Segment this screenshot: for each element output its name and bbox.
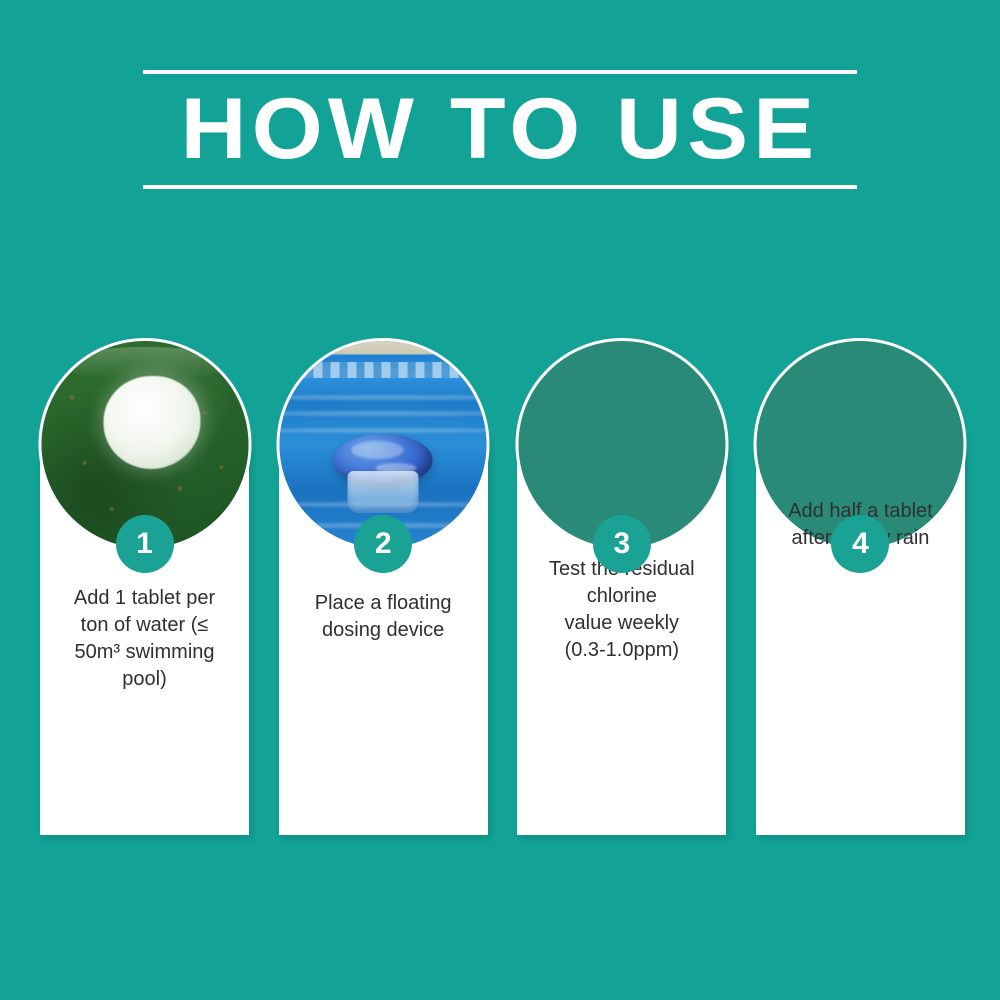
header-rule-bottom <box>143 185 857 189</box>
page-header: HOW TO USE <box>143 70 857 189</box>
step-badge-1: 1 <box>116 515 174 573</box>
page-title: HOW TO USE <box>122 74 879 185</box>
step-card-1: 1 Add 1 tablet per ton of water (≤ 50m³ … <box>40 338 249 835</box>
step-badge-3: 3 <box>593 515 651 573</box>
step-badge-4: 4 <box>831 515 889 573</box>
step-badge-2: 2 <box>354 515 412 573</box>
step-card-2: 2 Place a floating dosing device <box>279 338 488 835</box>
step-card-3: 3 Test the residual chlorine value weekl… <box>517 338 726 835</box>
steps-list: 1 Add 1 tablet per ton of water (≤ 50m³ … <box>40 338 965 838</box>
step-card-4: 4 Add half a tablet after heavy rain <box>756 338 965 835</box>
step-caption-1: Add 1 tablet per ton of water (≤ 50m³ sw… <box>48 585 241 693</box>
step-caption-2: Place a floating dosing device <box>287 590 480 644</box>
